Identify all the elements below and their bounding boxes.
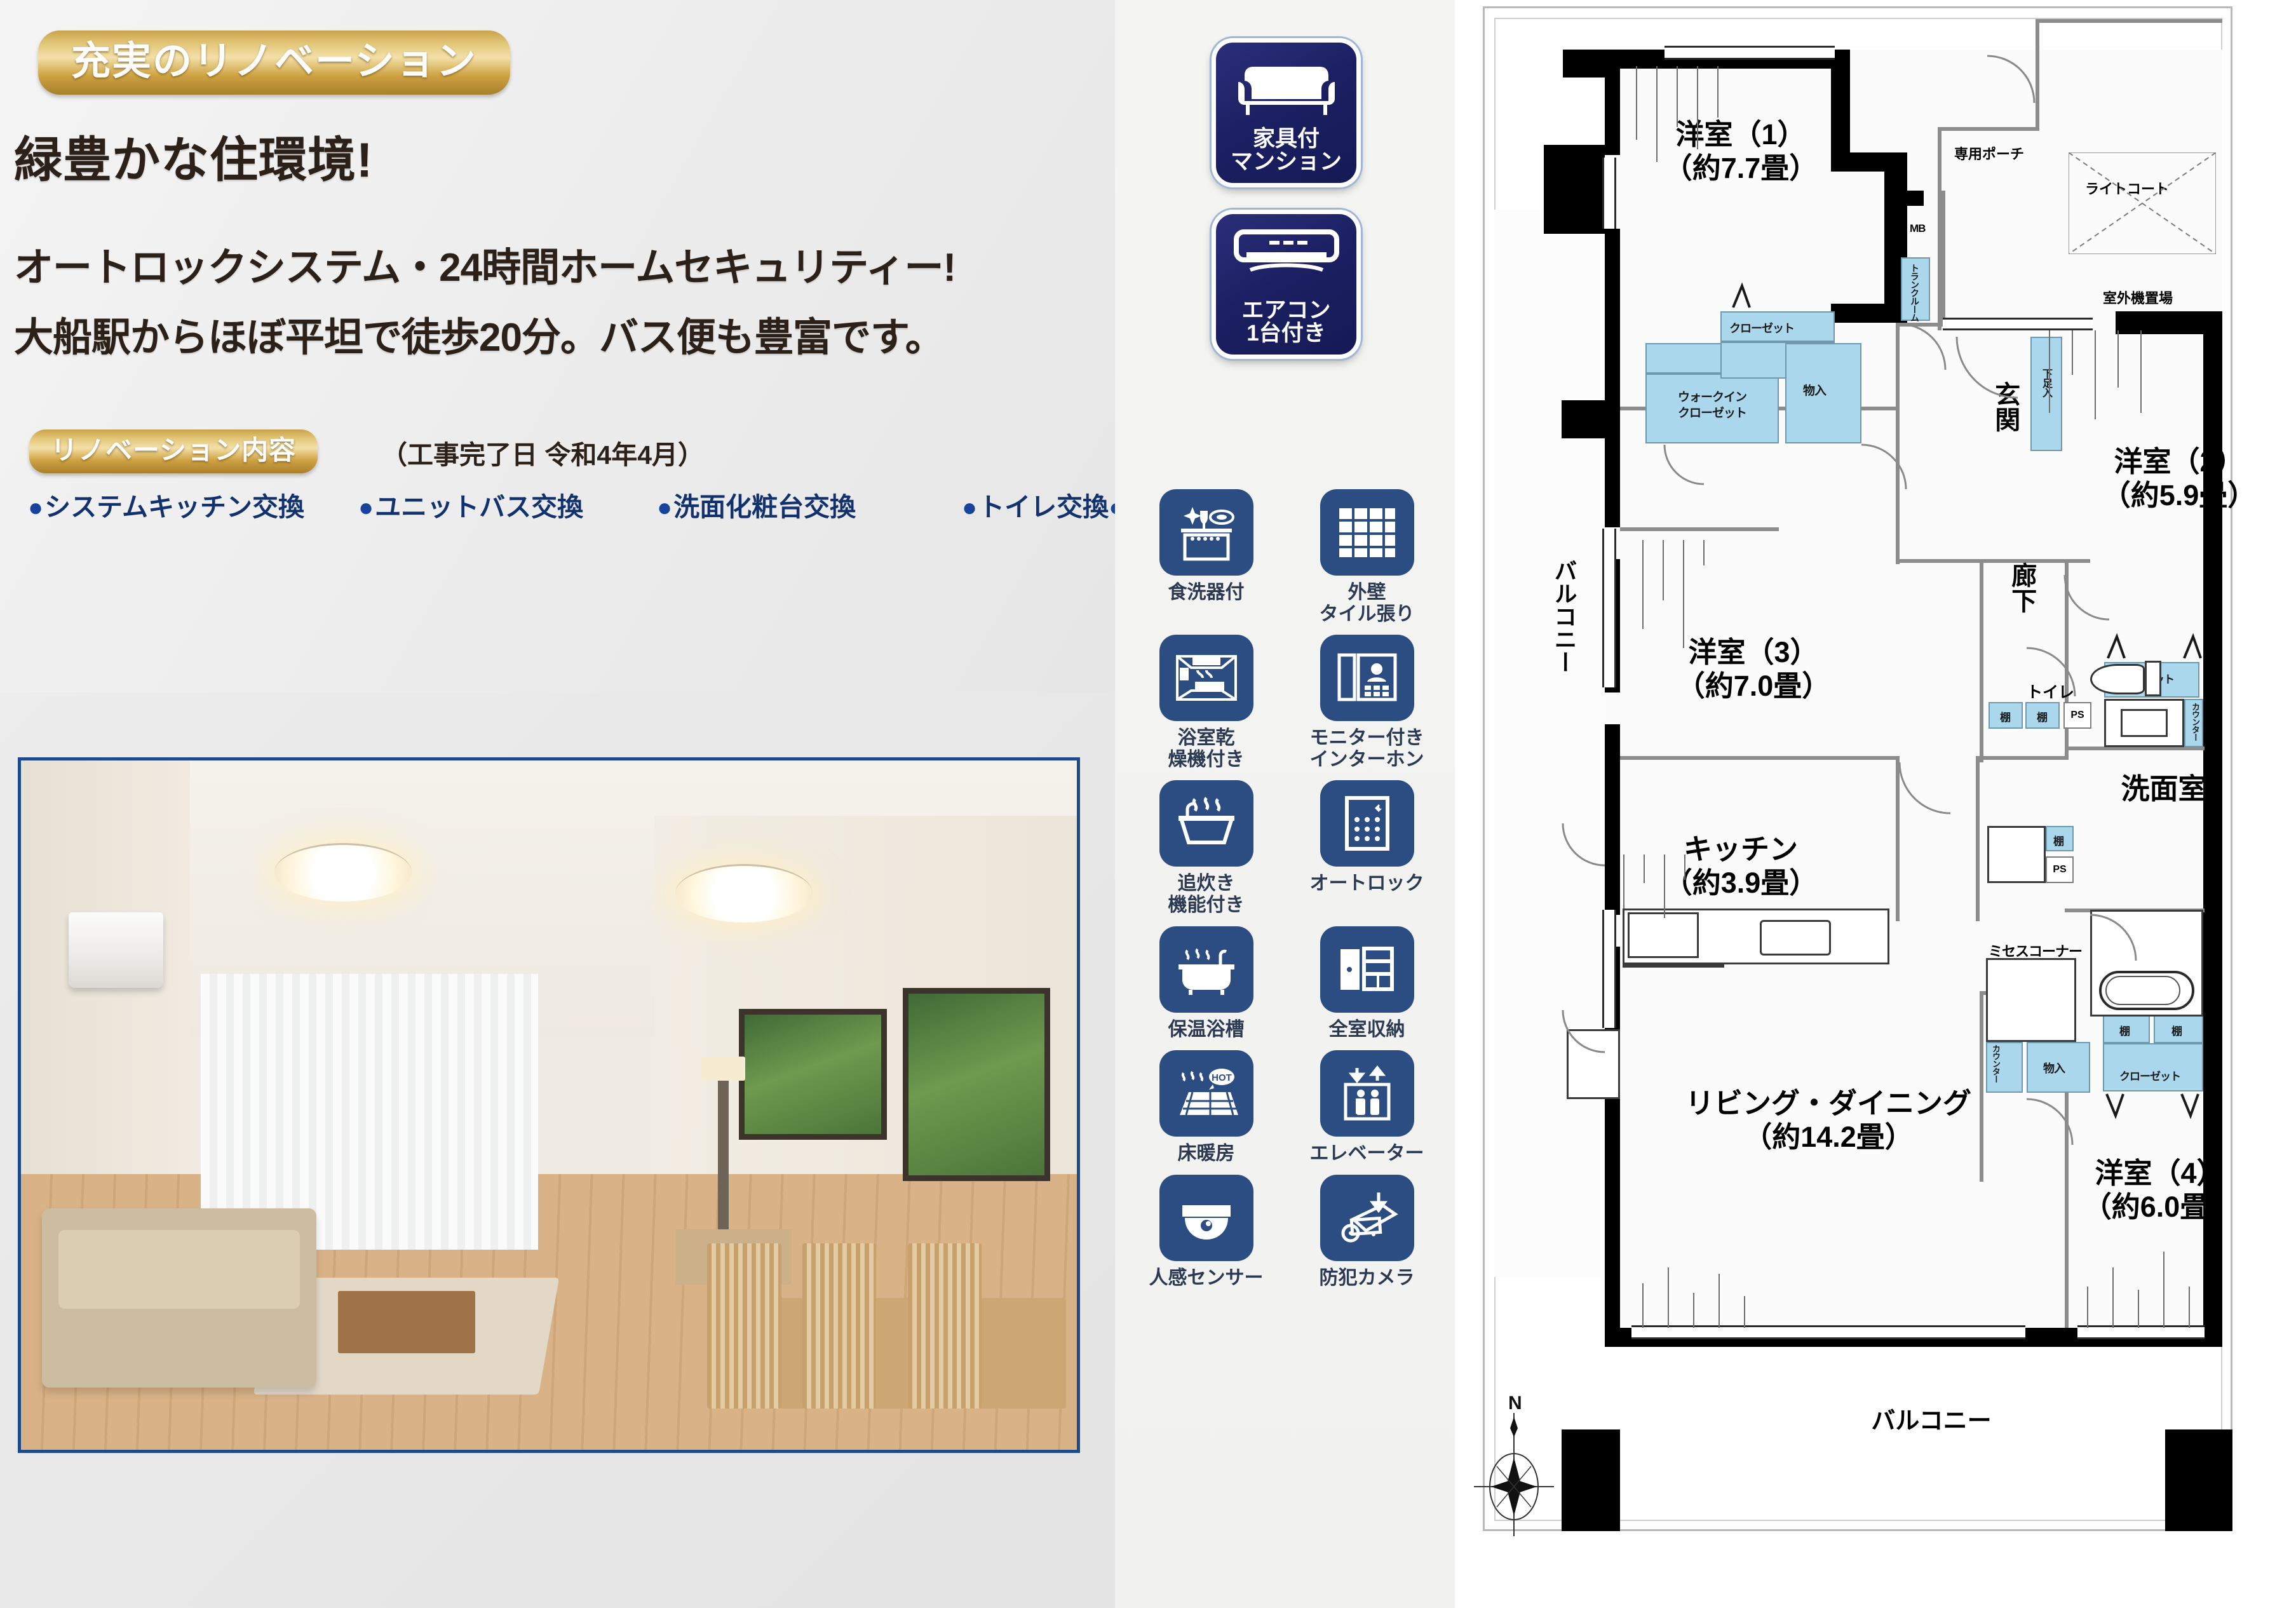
list-item: ●システムキッチン交換 xyxy=(28,489,358,525)
insulated-tub-icon xyxy=(1159,926,1253,1013)
photo-dining-chair xyxy=(707,1243,781,1409)
kitchen-counter-edge xyxy=(1623,964,1724,968)
room-label-kitchen: キッチン （約3.9畳） xyxy=(1645,832,1836,900)
facility-floor-heating: HOT 床暖房 xyxy=(1134,1050,1278,1165)
balcony-left-label: バルコニー xyxy=(1550,559,1577,673)
interior-photo xyxy=(18,757,1080,1453)
room-label-yoshitsu-4: 洋室（4） （約6.0畳） xyxy=(2065,1156,2255,1224)
label-trunk-room: トランクルーム xyxy=(1908,264,1921,321)
badge-air-conditioner-included: エアコン 1台付き xyxy=(1212,210,1361,359)
bath-dryer-icon xyxy=(1159,635,1253,721)
label-walk-in-closet: ウォークイン クローゼット xyxy=(1653,390,1771,421)
renovation-content-badge: リノベーション内容 xyxy=(29,429,318,473)
photo-ceiling-light xyxy=(675,864,813,922)
renovation-completion-date: （工事完了日 令和4年4月） xyxy=(381,433,704,471)
facility-all-room-storage: 全室収納 xyxy=(1295,926,1439,1041)
badge-label: エアコン 1台付き xyxy=(1241,299,1330,346)
wall xyxy=(1605,438,1620,527)
feature-icon-column: 家具付 マンション エアコン 1台付き xyxy=(1115,0,1455,1608)
photo-dining-chair xyxy=(908,1243,982,1409)
subheadline-security: オートロックシステム・24時間ホームセキュリティー! xyxy=(14,235,956,292)
wall xyxy=(2165,1429,2232,1531)
facility-security-camera: 防犯カメラ xyxy=(1295,1175,1439,1289)
all-room-storage-icon xyxy=(1320,926,1414,1013)
label-ps: PS xyxy=(2063,702,2091,729)
facility-reheat-bath: 追炊き 機能付き xyxy=(1134,780,1278,915)
renovation-item-list: ●システムキッチン交換 ●ユニットバス交換 ●洗面化粧台交換 ●トイレ交換 ●全… xyxy=(28,489,1070,525)
balcony-bottom-label: バルコニー xyxy=(1798,1407,2065,1436)
wall xyxy=(1976,756,1980,921)
facility-wall-tile: 外壁 タイル張り xyxy=(1295,489,1439,625)
label-outdoor-unit: 室外機置場 xyxy=(2103,287,2173,307)
window-left-3 xyxy=(1602,910,1616,1028)
facility-label: 人感センサー xyxy=(1149,1267,1264,1289)
facility-label: エレベーター xyxy=(1310,1143,1424,1165)
label-shelf: 棚 xyxy=(2119,1022,2130,1038)
room-label-entrance: 玄関 xyxy=(1990,381,2020,432)
label-ps: PS xyxy=(2046,856,2074,883)
label-counter: カウンター xyxy=(1990,1044,2002,1083)
svg-text:HOT: HOT xyxy=(1212,1072,1232,1083)
bullet-icon: ● xyxy=(28,494,43,522)
compass-rose: N xyxy=(1473,1391,1555,1537)
label-storage: 物入 xyxy=(1803,381,1826,398)
photo-floor-lamp xyxy=(718,1078,729,1229)
wall xyxy=(1620,527,1779,531)
label-shoe-box: 下足入 xyxy=(2038,368,2053,397)
facility-insulated-tub: 保温浴槽 xyxy=(1134,926,1278,1041)
wall xyxy=(1896,756,1900,921)
room-label-living-dining: リビング・ダイニング （約14.2畳） xyxy=(1631,1086,2025,1154)
window-left-1 xyxy=(1602,158,1616,229)
subheadline-access: 大船駅からほぼ平坦で徒歩20分。バス便も豊富です。 xyxy=(14,305,944,362)
facility-motion-sensor: 人感センサー xyxy=(1134,1175,1278,1289)
facility-label: 追炊き 機能付き xyxy=(1168,873,1245,915)
facility-label: 床暖房 xyxy=(1178,1143,1235,1165)
floor-plan: バルコニー 洋室（1） （約7.7畳） 洋室（2） （約5 xyxy=(1455,0,2296,1608)
wall xyxy=(1605,69,1620,155)
photo-dining-chair xyxy=(802,1243,876,1409)
label-shelf: 棚 xyxy=(2171,1022,2182,1038)
photo-window xyxy=(739,1009,887,1140)
wall xyxy=(1562,1429,1620,1531)
label-closet: クローゼット xyxy=(1729,320,1794,336)
wall xyxy=(2036,19,2222,23)
security-camera-icon xyxy=(1320,1175,1414,1261)
room-label-yoshitsu-2: 洋室（2） （約5.9畳） xyxy=(2084,445,2274,512)
left-marketing-panel: 充実のリノベーション 緑豊かな住環境! オートロックシステム・24時間ホームセキ… xyxy=(0,0,1115,1608)
photo-ceiling-light xyxy=(274,843,412,902)
label-shelf: 棚 xyxy=(2037,708,2047,724)
wall xyxy=(1620,756,1900,760)
facility-label: 外壁 タイル張り xyxy=(1320,582,1415,625)
wall xyxy=(1831,304,1907,323)
wall xyxy=(1900,191,1924,206)
facility-auto-lock: オートロック xyxy=(1295,780,1439,915)
facility-label: 保温浴槽 xyxy=(1168,1019,1245,1041)
facility-label: 全室収納 xyxy=(1329,1019,1405,1041)
label-toilet: トイレ xyxy=(2027,680,2074,703)
auto-lock-icon xyxy=(1320,780,1414,867)
photo-air-conditioner xyxy=(69,912,164,988)
label-shelf: 棚 xyxy=(2053,832,2063,848)
facility-label: モニター付き インターホン xyxy=(1310,727,1424,770)
wall xyxy=(1831,152,1907,172)
elevator-icon xyxy=(1320,1050,1414,1137)
vanity-basin xyxy=(2121,709,2168,737)
light-court-hatch xyxy=(2069,152,2216,254)
label-shelf: 棚 xyxy=(2000,708,2010,724)
wall xyxy=(1900,559,2090,563)
wall xyxy=(1896,323,1900,564)
wall xyxy=(1605,724,1620,915)
badge-label: 家具付 マンション xyxy=(1231,128,1342,175)
toilet-tank xyxy=(2145,661,2161,696)
room-label-washroom: 洗面室 xyxy=(2081,772,2246,806)
wall xyxy=(2036,19,2039,131)
renovation-headline-badge: 充実のリノベーション xyxy=(38,30,510,95)
label-private-porch: 専用ポーチ xyxy=(1954,143,2024,163)
intercom-monitor-icon xyxy=(1320,635,1414,721)
dishwasher-icon xyxy=(1159,489,1253,576)
facility-label: 浴室乾 燥機付き xyxy=(1168,727,1245,770)
label-closet: クローゼット xyxy=(2119,1067,2180,1083)
stove xyxy=(1628,912,1699,958)
wall xyxy=(1562,400,1620,438)
label-mb: MB xyxy=(1910,222,1925,235)
label-storage: 物入 xyxy=(2043,1060,2065,1076)
reheat-bath-icon xyxy=(1159,780,1253,867)
copy-block: 充実のリノベーション 緑豊かな住環境! オートロックシステム・24時間ホームセキ… xyxy=(0,0,1115,693)
room-label-yoshitsu-3: 洋室（3） （約7.0畳） xyxy=(1658,635,1849,703)
bullet-icon: ● xyxy=(358,494,374,522)
wall xyxy=(1941,191,1945,324)
facility-label: 食洗器付 xyxy=(1168,582,1245,604)
sink xyxy=(1760,920,1831,956)
bullet-icon: ● xyxy=(962,494,977,522)
window-top xyxy=(1665,46,1835,60)
list-item: ●ユニットバス交換 xyxy=(358,489,657,525)
wall xyxy=(1605,229,1620,417)
facility-icon-grid: 食洗器付 外壁 タイル張り xyxy=(1134,489,1439,1288)
facility-elevator: エレベーター xyxy=(1295,1050,1439,1165)
washer-space xyxy=(1987,826,2046,883)
photo-sofa xyxy=(42,1208,316,1388)
photo-coffee-table xyxy=(338,1291,475,1353)
bathtub-inner xyxy=(2105,976,2180,1005)
facility-label: オートロック xyxy=(1310,873,1424,895)
list-item: ●洗面化粧台交換 xyxy=(657,489,962,525)
label-counter: カウンター xyxy=(2189,703,2201,741)
wall xyxy=(1938,127,2039,131)
room-label-corridor: 廊下 xyxy=(2006,562,2036,613)
mrs-corner-desk xyxy=(1986,958,2076,1042)
air-conditioner-icon xyxy=(1216,228,1356,280)
badge-furnished-apartment: 家具付 マンション xyxy=(1212,38,1361,187)
wall xyxy=(2116,311,2222,334)
page-title: 緑豊かな住環境! xyxy=(14,121,373,191)
bay-window xyxy=(1567,1029,1620,1099)
svg-text:N: N xyxy=(1508,1393,1522,1414)
window-bottom-y4 xyxy=(2077,1325,2205,1339)
balcony-left-area xyxy=(1494,210,1609,1277)
window-bottom-ld xyxy=(1631,1325,2025,1339)
room-label-yoshitsu-1: 洋室（1） （約7.7畳） xyxy=(1645,118,1836,185)
window-left-2 xyxy=(1602,529,1616,687)
bullet-icon: ● xyxy=(657,494,672,522)
motion-sensor-icon xyxy=(1159,1175,1253,1261)
facility-bath-dryer: 浴室乾 燥機付き xyxy=(1134,635,1278,770)
wall xyxy=(1544,145,1605,234)
wall-tile-icon xyxy=(1320,489,1414,576)
facility-dishwasher: 食洗器付 xyxy=(1134,489,1278,625)
floor-heating-icon: HOT xyxy=(1159,1050,1253,1137)
list-item: ●トイレ交換 xyxy=(962,489,1109,525)
wall xyxy=(1980,756,2069,760)
facility-label: 防犯カメラ xyxy=(1320,1267,1415,1289)
wall xyxy=(1980,559,1983,762)
window-y2-top xyxy=(1943,318,2093,330)
photo-window xyxy=(903,988,1051,1181)
toilet-fixture xyxy=(2090,664,2145,694)
sofa-icon xyxy=(1216,57,1356,117)
facility-intercom-monitor: モニター付き インターホン xyxy=(1295,635,1439,770)
